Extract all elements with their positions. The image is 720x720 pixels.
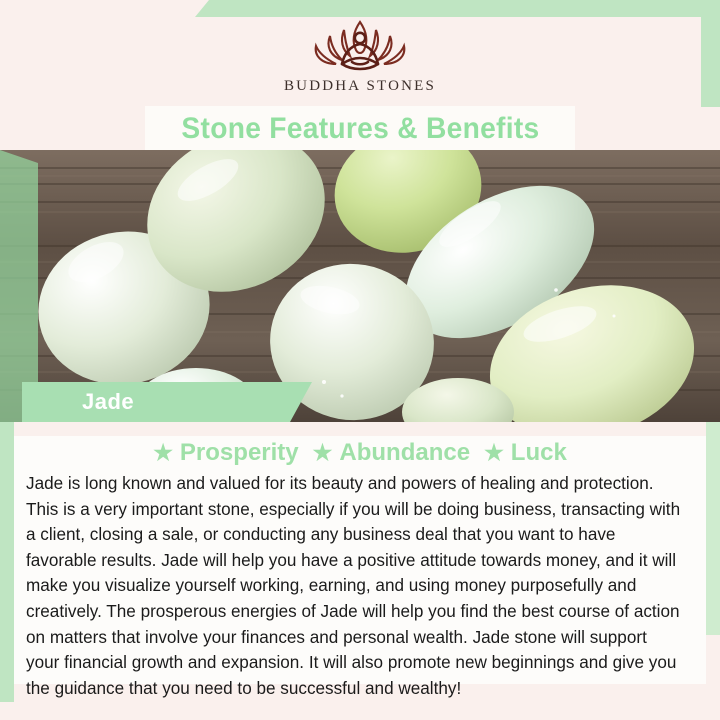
benefit-label: Abundance bbox=[339, 439, 470, 467]
bottom-strip bbox=[0, 702, 720, 720]
star-icon: ★ bbox=[484, 442, 504, 464]
benefit-label: Prosperity bbox=[180, 439, 299, 467]
benefit-label: Luck bbox=[511, 439, 567, 467]
decorative-band-left bbox=[0, 398, 14, 720]
decorative-band-right-lower bbox=[706, 420, 720, 635]
benefit-item-prosperity: ★ Prosperity bbox=[153, 439, 298, 467]
cream-divider bbox=[14, 422, 706, 436]
title-banner: Stone Features & Benefits bbox=[145, 106, 575, 151]
benefit-item-luck: ★ Luck bbox=[484, 439, 567, 467]
brand-name: BUDDHA STONES bbox=[284, 78, 436, 95]
photo-green-overlay bbox=[0, 150, 38, 422]
infographic-page: BUDDHA STONES Stone Features & Benefits bbox=[0, 0, 720, 720]
content-panel: ★ Prosperity ★ Abundance ★ Luck Jade is … bbox=[14, 436, 706, 684]
stone-name-banner: Jade bbox=[22, 382, 312, 422]
stone-name: Jade bbox=[82, 389, 134, 415]
benefits-row: ★ Prosperity ★ Abundance ★ Luck bbox=[14, 436, 706, 467]
brand-logo: BUDDHA STONES bbox=[0, 14, 720, 106]
description-text: Jade is long known and valued for its be… bbox=[26, 471, 684, 701]
page-title: Stone Features & Benefits bbox=[181, 112, 539, 146]
photo-illustration bbox=[0, 150, 720, 422]
star-icon: ★ bbox=[153, 442, 173, 464]
benefit-item-abundance: ★ Abundance bbox=[313, 439, 470, 467]
lotus-meditation-icon bbox=[300, 14, 420, 76]
star-icon: ★ bbox=[313, 442, 333, 464]
jade-stones-photo bbox=[0, 150, 720, 422]
